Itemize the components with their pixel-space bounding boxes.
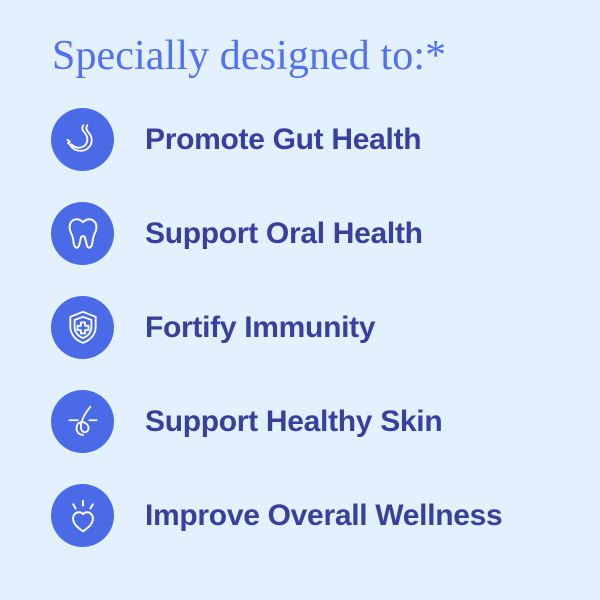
stomach-icon bbox=[51, 108, 114, 171]
benefits-list: Promote Gut Health Support Oral Health F… bbox=[0, 108, 600, 578]
shield-cross-icon bbox=[51, 296, 114, 359]
hair-follicle-icon bbox=[51, 390, 114, 453]
radiant-heart-icon bbox=[51, 484, 114, 547]
list-item-label: Promote Gut Health bbox=[145, 123, 421, 157]
list-item-label: Support Oral Health bbox=[145, 217, 423, 251]
list-item: Fortify Immunity bbox=[0, 296, 600, 359]
list-item: Support Healthy Skin bbox=[0, 390, 600, 453]
list-item: Promote Gut Health bbox=[0, 108, 600, 171]
tooth-icon bbox=[51, 202, 114, 265]
benefits-card: Specially designed to:* Promote Gut Heal… bbox=[0, 0, 600, 600]
list-item: Support Oral Health bbox=[0, 202, 600, 265]
list-item-label: Improve Overall Wellness bbox=[145, 499, 502, 533]
page-title: Specially designed to:* bbox=[52, 34, 446, 78]
list-item-label: Support Healthy Skin bbox=[145, 405, 442, 439]
list-item: Improve Overall Wellness bbox=[0, 484, 600, 547]
list-item-label: Fortify Immunity bbox=[145, 311, 375, 345]
